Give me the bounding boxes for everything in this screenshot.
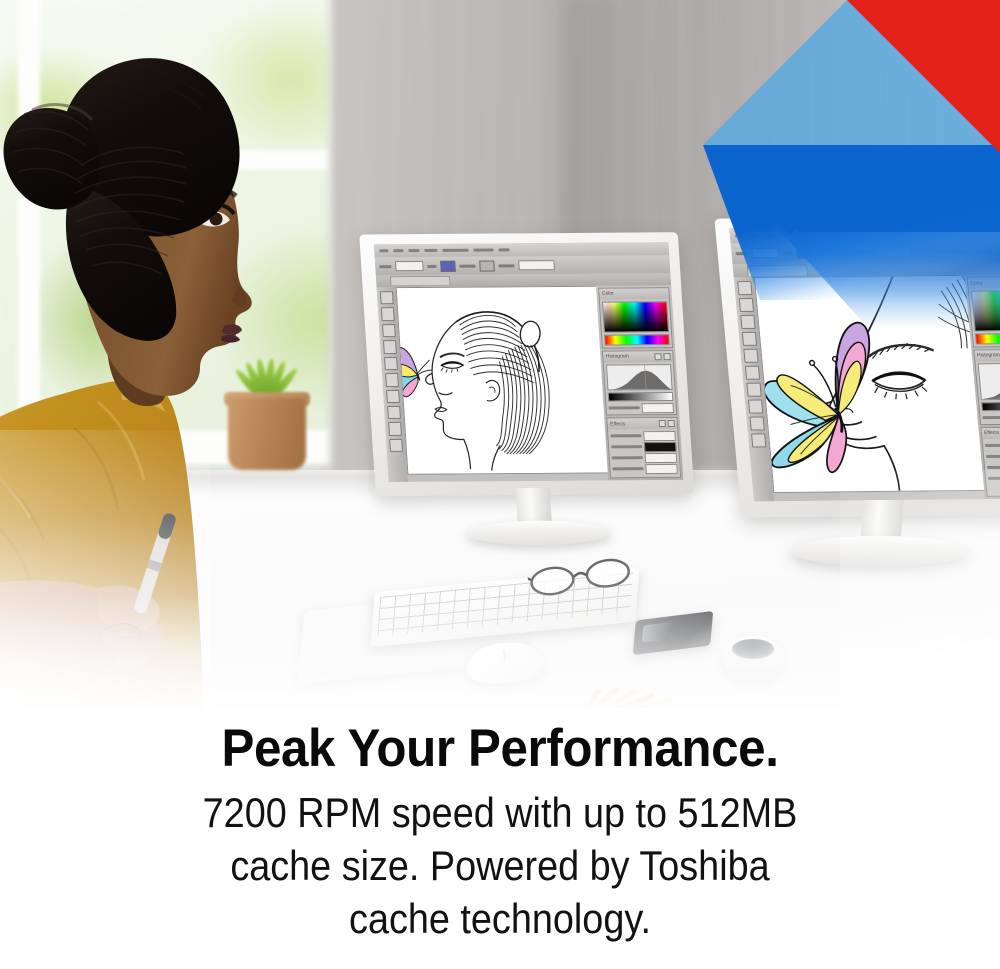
tool-marquee[interactable] [739, 298, 754, 312]
promo-body-line-3: cache technology. [349, 895, 651, 942]
right-monitor-screen[interactable]: Color Histogram [729, 225, 1000, 501]
preset-select[interactable] [642, 403, 674, 413]
tool-eraser[interactable] [745, 366, 760, 380]
panel-histogram-title: Histogram [974, 349, 1000, 361]
shape-select[interactable] [751, 248, 780, 258]
histogram-graph [978, 362, 1000, 399]
color-field[interactable] [971, 290, 1000, 331]
histogram-preset-row[interactable] [982, 412, 1000, 422]
panel-title-text: Color [602, 291, 614, 297]
menu-item-window[interactable] [829, 233, 849, 236]
graphics-app-window[interactable]: Color Histogram [374, 242, 683, 482]
photo-fade-right [840, 470, 1000, 712]
promo-text-block: Peak Your Performance. 7200 RPM speed wi… [0, 708, 1000, 969]
menu-item-preferences[interactable] [798, 233, 824, 236]
effects-row-shadow-color[interactable] [611, 442, 676, 451]
density-label [987, 465, 1000, 468]
effects-row-shadow-color[interactable] [986, 451, 1000, 461]
promo-body-line-1: 7200 RPM speed with up to 512MB [203, 789, 798, 836]
graphics-app-window[interactable]: Color Histogram [729, 225, 1000, 501]
line-width-label [855, 251, 871, 254]
menu-item-color[interactable] [424, 249, 437, 252]
shadow-color-label [611, 445, 642, 448]
preset-label [982, 415, 1000, 418]
density-label [612, 456, 643, 459]
menu-item-color[interactable] [780, 234, 793, 237]
panel-effects-title: Effects [608, 418, 677, 429]
wall-blind-stripe [714, 0, 716, 540]
shadow-color-swatch[interactable] [644, 442, 676, 452]
panel-histogram[interactable]: Histogram [973, 348, 1000, 424]
panel-color[interactable]: Color [967, 276, 1000, 347]
panel-title-text: Histogram [977, 352, 1000, 358]
promo-body-text: 7200 RPM speed with up to 512MB cache si… [50, 780, 950, 945]
menu-item-help[interactable] [498, 248, 509, 251]
menu-item-preferences[interactable] [442, 249, 468, 252]
panel-title-text: Color [970, 280, 983, 286]
menu-item-view[interactable] [764, 234, 775, 237]
tool-hand[interactable] [748, 400, 763, 414]
artwork-butterfly-closeup [755, 276, 987, 492]
color-field[interactable] [602, 301, 669, 332]
levels-ramp[interactable] [608, 392, 673, 401]
tool-lasso[interactable] [740, 315, 755, 329]
shadow-preset-label [611, 434, 642, 437]
tool-text[interactable] [751, 434, 766, 448]
left-monitor-screen[interactable]: Color Histogram [374, 242, 683, 482]
photo-fade-left [0, 430, 210, 712]
line-color-label [459, 264, 475, 267]
fill-color-swatch[interactable] [440, 260, 456, 271]
promo-banner: Color Histogram [0, 0, 1000, 969]
menu-item-window[interactable] [473, 249, 493, 252]
page-title: Peak Your Performance. [35, 708, 965, 780]
menu-item-help[interactable] [854, 233, 865, 236]
tool-shape[interactable] [750, 417, 765, 431]
line-width-label [498, 264, 514, 267]
preset-label [609, 406, 640, 409]
line-color-label [816, 251, 832, 254]
hue-slider[interactable] [975, 333, 1000, 345]
panel-title-text: Effects [610, 421, 626, 427]
lifestyle-photo: Color Histogram [0, 0, 1000, 712]
tool-brush[interactable] [743, 349, 758, 363]
panel-title-text: Histogram [606, 354, 629, 360]
effects-row-shadow-preset[interactable] [985, 440, 1000, 450]
size-label [613, 467, 644, 470]
tool-move[interactable] [737, 281, 752, 295]
effects-row-size[interactable] [613, 464, 678, 473]
fill-color-swatch[interactable] [796, 247, 812, 258]
menu-item-file[interactable] [735, 234, 744, 237]
tool-zoom[interactable] [746, 383, 761, 397]
levels-ramp[interactable] [981, 401, 1000, 411]
panel-histogram[interactable]: Histogram [602, 350, 677, 416]
tool-options-bar[interactable] [731, 240, 1000, 264]
line-width-input[interactable] [518, 260, 555, 270]
effects-row-density[interactable] [612, 453, 677, 462]
panel-color-title: Color [600, 288, 669, 299]
promo-body-line-2: cache size. Powered by Toshiba [230, 842, 769, 889]
shadow-preset-select[interactable] [643, 431, 675, 441]
panel-color-title: Color [968, 277, 1000, 289]
color-label [784, 252, 793, 255]
shadow-preset-label [985, 443, 1000, 446]
histogram-graph [606, 364, 672, 391]
line-color-swatch[interactable] [835, 247, 851, 258]
tool-options-bar[interactable] [375, 255, 671, 275]
artwork-canvas[interactable] [396, 286, 612, 475]
shape-label [736, 252, 748, 255]
histogram-preset-row[interactable] [609, 403, 674, 412]
panel-title-text: Effects [984, 430, 1000, 436]
document-tab-art[interactable] [747, 265, 808, 276]
size-input[interactable] [646, 464, 678, 474]
artwork-portrait-with-butterfly [397, 287, 611, 474]
panel-effects[interactable]: Effects [607, 417, 681, 478]
effects-row-shadow-preset[interactable] [611, 431, 676, 440]
menu-item-view[interactable] [408, 249, 419, 252]
menu-item-edit[interactable] [749, 234, 759, 237]
side-panels[interactable]: Color Histogram [596, 285, 683, 480]
shadow-color-label [986, 454, 1000, 457]
hue-slider[interactable] [604, 334, 669, 345]
panel-color[interactable]: Color [599, 287, 673, 348]
panel-histogram-title: Histogram [604, 351, 673, 362]
left-monitor[interactable]: Color Histogram [359, 232, 694, 496]
density-input[interactable] [645, 453, 677, 463]
color-label [427, 264, 436, 267]
line-color-swatch[interactable] [479, 260, 495, 271]
artwork-canvas[interactable] [754, 275, 988, 493]
panel-effects-title: Effects [982, 427, 1000, 439]
line-width-input[interactable] [875, 247, 912, 257]
tool-wand[interactable] [742, 332, 757, 346]
